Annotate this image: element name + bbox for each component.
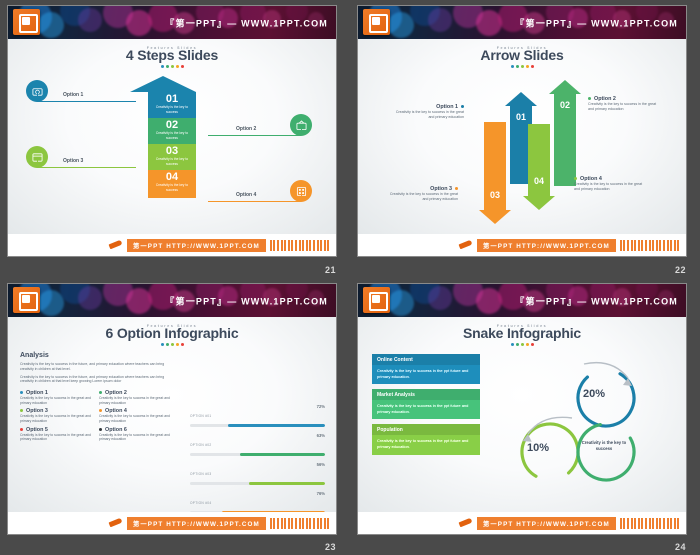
option-text: Creativity is the key to success in the … <box>99 414 170 423</box>
bokeh-circle <box>78 286 102 310</box>
slide-body: Features Slides Snake Infographic Online… <box>358 317 686 512</box>
slide-thumbnail-grid: 『第一PPT』— WWW.1PPT.COM Features Slides 4 … <box>0 0 700 555</box>
bar-value: 76% <box>317 491 325 496</box>
arrow-number: 03 <box>484 122 506 200</box>
option-text: Creativity is the key to success in the … <box>99 396 170 405</box>
footer-stripes <box>620 518 680 529</box>
table-row: OPTION #02 63% <box>190 433 325 456</box>
analysis-heading: Analysis <box>20 352 170 359</box>
slide-body: Features Slides 4 Steps Slides 01 Creati… <box>8 39 336 234</box>
snake-card-heading: Market Analysis <box>372 389 480 400</box>
slide-23[interactable]: 『第一PPT』— WWW.1PPT.COM Features Slides 6 … <box>8 284 336 534</box>
ring-value-1: 20% <box>583 388 605 400</box>
slide-banner: 『第一PPT』— WWW.1PPT.COM <box>8 284 336 317</box>
slide-banner: 『第一PPT』— WWW.1PPT.COM <box>8 6 336 39</box>
arrow-option-box: Option 4 Creativity is the key to succes… <box>574 176 644 192</box>
bar-track <box>190 453 325 456</box>
option-text: Creativity is the key to success in the … <box>20 396 91 405</box>
slide-body: Features Slides 6 Option Infographic Ana… <box>8 317 336 512</box>
footer-stripes <box>270 240 330 251</box>
option-legend-item[interactable]: Option 4 Creativity is the key to succes… <box>99 408 170 423</box>
banner-title: 『第一PPT』— WWW.1PPT.COM <box>165 16 328 29</box>
footer-url: 第一PPT HTTP://WWW.1PPT.COM <box>477 239 616 252</box>
slide-footer: 第一PPT HTTP://WWW.1PPT.COM <box>8 512 336 534</box>
pen-icon <box>108 239 124 251</box>
bar-fill <box>240 453 325 456</box>
arrow-03[interactable]: 03 <box>484 122 506 224</box>
page-number: 21 <box>325 265 336 275</box>
arrow-head <box>130 76 196 92</box>
option-text: Creativity is the key to success in the … <box>20 414 91 423</box>
arrow-option-box: Option 1 Creativity is the key to succes… <box>394 104 464 120</box>
slide-cell-23[interactable]: 『第一PPT』— WWW.1PPT.COM Features Slides 6 … <box>0 278 350 555</box>
arrow-option-text: Creativity is the key to success in the … <box>388 192 458 202</box>
option-legend-item[interactable]: Option 2 Creativity is the key to succes… <box>99 390 170 405</box>
option-text: Creativity is the key to success in the … <box>99 433 170 442</box>
snake-card-text: Creativity is the key to success in the … <box>372 435 480 454</box>
slide-footer: 第一PPT HTTP://WWW.1PPT.COM <box>358 234 686 256</box>
bar-track <box>190 482 325 485</box>
step-option-label: Option 4 <box>236 192 256 198</box>
snake-card-heading: Online Content <box>372 354 480 365</box>
page-title: 4 Steps Slides <box>8 47 336 63</box>
step-option-label: Option 1 <box>63 92 83 98</box>
banner-title: 『第一PPT』— WWW.1PPT.COM <box>515 16 678 29</box>
step-segment[interactable]: 04 Creativity is the key to success <box>148 170 196 198</box>
six-option-infographic: Analysis Creativity is the key to succes… <box>8 346 336 496</box>
step-segment[interactable]: 01 Creativity is the key to success <box>148 92 196 118</box>
bokeh-circle <box>428 286 452 310</box>
bar-label: OPTION #04 <box>190 501 211 505</box>
snake-infographic: Online Content Creativity is the key to … <box>358 346 686 496</box>
arrow-option-box: Option 3 Creativity is the key to succes… <box>388 186 458 202</box>
table-row: OPTION #01 72% <box>190 404 325 427</box>
snake-card[interactable]: Population Creativity is the key to succ… <box>372 424 480 454</box>
slide-body: Features Slides Arrow Slides 01 02 03 04… <box>358 39 686 234</box>
option-legend-item[interactable]: Option 1 Creativity is the key to succes… <box>20 390 91 405</box>
slide-21[interactable]: 『第一PPT』— WWW.1PPT.COM Features Slides 4 … <box>8 6 336 256</box>
slide-footer: 第一PPT HTTP://WWW.1PPT.COM <box>358 512 686 534</box>
snake-card-heading: Population <box>372 424 480 435</box>
step-segment[interactable]: 02 Creativity is the key to success <box>148 118 196 144</box>
arrow-option-text: Creativity is the key to success in the … <box>574 182 644 192</box>
bar-value: 56% <box>317 462 325 467</box>
slide-footer: 第一PPT HTTP://WWW.1PPT.COM <box>8 234 336 256</box>
snake-rings: 20% 10% Creativity is the key to success <box>480 354 686 496</box>
step-option-label: Option 3 <box>63 158 83 164</box>
slide-24[interactable]: 『第一PPT』— WWW.1PPT.COM Features Slides Sn… <box>358 284 686 534</box>
arrow-shaft: 02 <box>554 94 576 186</box>
bar-track <box>190 424 325 427</box>
step-connector-v <box>301 125 302 135</box>
step-number: 03 <box>148 145 196 157</box>
step-number: 01 <box>148 93 196 105</box>
arrow-number: 01 <box>510 106 532 122</box>
footer-url: 第一PPT HTTP://WWW.1PPT.COM <box>127 517 266 530</box>
pen-icon <box>108 517 124 529</box>
step-number: 04 <box>148 171 196 183</box>
page-title: Arrow Slides <box>358 47 686 63</box>
banner-title: 『第一PPT』— WWW.1PPT.COM <box>515 294 678 307</box>
bar-value: 72% <box>317 404 325 409</box>
bar-label: OPTION #03 <box>190 472 211 476</box>
step-text: Creativity is the key to success <box>148 183 196 192</box>
footer-url: 第一PPT HTTP://WWW.1PPT.COM <box>477 517 616 530</box>
step-connector <box>208 135 301 136</box>
option-legend: Option 1 Creativity is the key to succes… <box>20 390 170 445</box>
powerpoint-logo-icon <box>363 287 390 313</box>
step-connector-v <box>301 191 302 201</box>
slide-title-block: Features Slides 6 Option Infographic <box>8 317 336 346</box>
step-text: Creativity is the key to success <box>148 131 196 140</box>
page-number: 23 <box>325 542 336 552</box>
page-number: 24 <box>675 542 686 552</box>
step-connector <box>208 201 301 202</box>
slide-cell-24[interactable]: 『第一PPT』— WWW.1PPT.COM Features Slides Sn… <box>350 278 700 555</box>
step-connector <box>37 167 136 168</box>
option-legend-item[interactable]: Option 3 Creativity is the key to succes… <box>20 408 91 423</box>
slide-22[interactable]: 『第一PPT』— WWW.1PPT.COM Features Slides Ar… <box>358 6 686 256</box>
bokeh-circle <box>428 8 452 32</box>
bar-label: OPTION #02 <box>190 443 211 447</box>
pen-icon <box>458 239 474 251</box>
arrow-option-text: Creativity is the key to success in the … <box>588 102 658 112</box>
powerpoint-logo-icon <box>13 287 40 313</box>
slide-cell-21[interactable]: 『第一PPT』— WWW.1PPT.COM Features Slides 4 … <box>0 0 350 278</box>
step-text: Creativity is the key to success <box>148 105 196 114</box>
page-number: 22 <box>675 265 686 275</box>
four-steps-diagram: 01 Creativity is the key to success 02 C… <box>8 68 336 208</box>
bar-fill <box>249 482 325 485</box>
bar-label: OPTION #01 <box>190 414 211 418</box>
option-text: Creativity is the key to success in the … <box>20 433 91 442</box>
step-segment[interactable]: 03 Creativity is the key to success <box>148 144 196 170</box>
analysis-paragraph-1: Creativity is the key to success in the … <box>20 362 170 372</box>
arrow-option-text: Creativity is the key to success in the … <box>394 110 464 120</box>
slide-title-block: Features Slides Snake Infographic <box>358 317 686 346</box>
bar-fill <box>228 424 325 427</box>
page-title: 6 Option Infographic <box>8 325 336 341</box>
arrow-number: 02 <box>554 94 576 110</box>
arrow-02[interactable]: 02 <box>554 80 576 186</box>
table-row: OPTION #04 76% <box>190 491 325 514</box>
slide-title-block: Features Slides 4 Steps Slides <box>8 39 336 68</box>
arrow-number: 04 <box>528 124 550 186</box>
snake-card[interactable]: Online Content Creativity is the key to … <box>372 354 480 384</box>
arrow-shaft: 03 <box>484 122 506 210</box>
ring-value-2: 10% <box>527 442 549 454</box>
step-text: Creativity is the key to success <box>148 157 196 166</box>
banner-title: 『第一PPT』— WWW.1PPT.COM <box>165 294 328 307</box>
slide-cell-22[interactable]: 『第一PPT』— WWW.1PPT.COM Features Slides Ar… <box>350 0 700 278</box>
bar-value: 63% <box>317 433 325 438</box>
step-option-label: Option 2 <box>236 126 256 132</box>
footer-stripes <box>620 240 680 251</box>
slide-banner: 『第一PPT』— WWW.1PPT.COM <box>358 6 686 39</box>
step-arrow-column: 01 Creativity is the key to success 02 C… <box>148 76 196 198</box>
page-title: Snake Infographic <box>358 325 686 341</box>
pen-icon <box>458 517 474 529</box>
snake-card[interactable]: Market Analysis Creativity is the key to… <box>372 389 480 419</box>
bokeh-circle <box>78 8 102 32</box>
step-number: 02 <box>148 119 196 131</box>
powerpoint-logo-icon <box>13 9 40 35</box>
option-legend-item[interactable]: Option 5 Creativity is the key to succes… <box>20 427 91 442</box>
slide-title-block: Features Slides Arrow Slides <box>358 39 686 68</box>
step-connector-v <box>37 91 38 101</box>
step-connector <box>37 101 136 102</box>
footer-url: 第一PPT HTTP://WWW.1PPT.COM <box>127 239 266 252</box>
step-connector-v <box>37 157 38 167</box>
arrow-diagram: 01 02 03 04 Option 1 Creativity is the k… <box>358 68 686 216</box>
slide-banner: 『第一PPT』— WWW.1PPT.COM <box>358 284 686 317</box>
snake-card-list: Online Content Creativity is the key to … <box>372 354 480 496</box>
option-legend-item[interactable]: Option 6 Creativity is the key to succes… <box>99 427 170 442</box>
footer-stripes <box>270 518 330 529</box>
arrow-option-box: Option 2 Creativity is the key to succes… <box>588 96 658 112</box>
ring-value-3: Creativity is the key to success <box>580 440 628 452</box>
snake-card-text: Creativity is the key to success in the … <box>372 365 480 384</box>
snake-card-text: Creativity is the key to success in the … <box>372 400 480 419</box>
arrow-shaft: 04 <box>528 124 550 196</box>
arrow-04[interactable]: 04 <box>528 124 550 210</box>
analysis-paragraph-2: Creativity is the key to success in the … <box>20 375 170 385</box>
table-row: OPTION #03 56% <box>190 462 325 485</box>
powerpoint-logo-icon <box>363 9 390 35</box>
